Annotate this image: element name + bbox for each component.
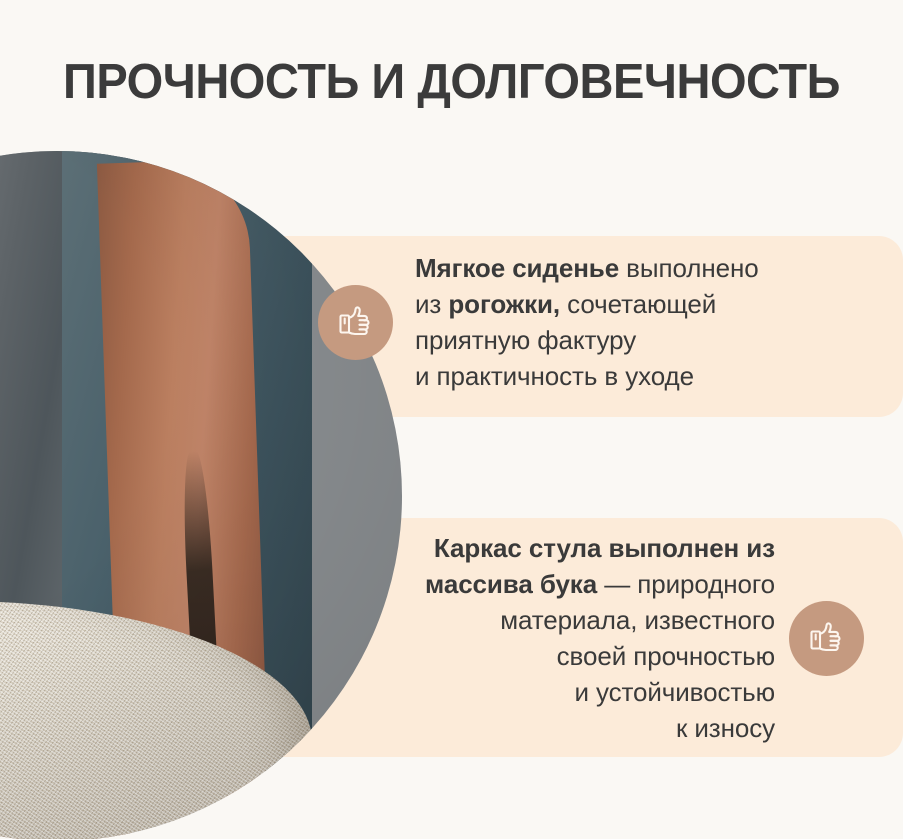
feature-text-beech-frame: Каркас стула выполнен измассива бука — п… <box>425 530 775 746</box>
feature-text-line: Мягкое сиденье выполнено <box>415 250 759 286</box>
feature-text-line: из рогожки, сочетающей <box>415 286 759 322</box>
feature-row-soft-seat: Мягкое сиденье выполненоиз рогожки, соче… <box>318 250 878 394</box>
feature-text-line: и практичность в уходе <box>415 358 759 394</box>
feature-text-line: к износу <box>425 710 775 746</box>
thumbs-up-icon <box>789 601 864 676</box>
feature-text-line: материала, известного <box>425 602 775 638</box>
infographic-canvas: ПРОЧНОСТЬ И ДОЛГОВЕЧНОСТЬ <box>0 0 903 839</box>
feature-text-line: и устойчивостью <box>425 674 775 710</box>
feature-text-soft-seat: Мягкое сиденье выполненоиз рогожки, соче… <box>415 250 759 394</box>
feature-row-beech-frame: Каркас стула выполнен измассива бука — п… <box>330 530 864 746</box>
thumbs-up-icon <box>318 285 393 360</box>
feature-text-line: Каркас стула выполнен из <box>425 530 775 566</box>
feature-text-line: массива бука — природного <box>425 566 775 602</box>
feature-text-line: приятную фактуру <box>415 322 759 358</box>
page-title: ПРОЧНОСТЬ И ДОЛГОВЕЧНОСТЬ <box>18 54 885 110</box>
feature-text-line: своей прочностью <box>425 638 775 674</box>
